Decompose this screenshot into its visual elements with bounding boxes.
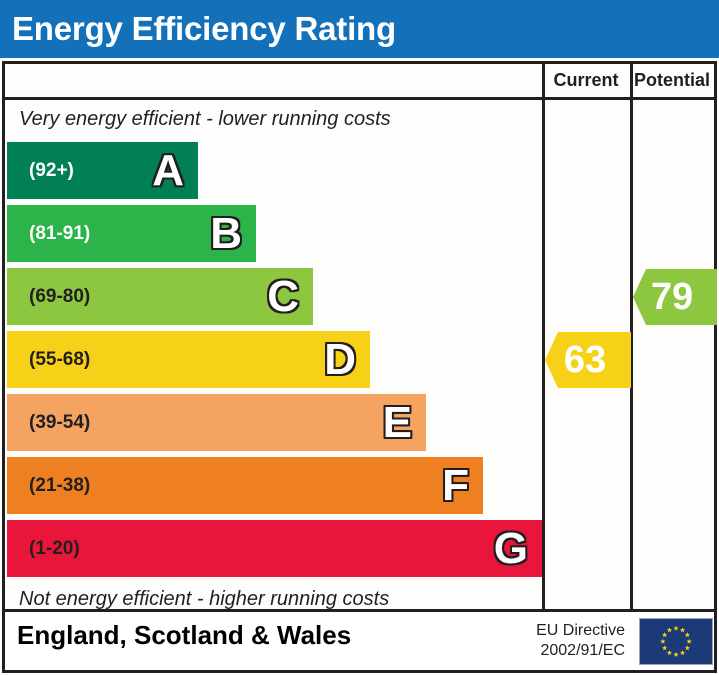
band-letter-g: G — [494, 520, 528, 577]
band-range-b: (81-91) — [29, 205, 90, 262]
band-bar-e: (39-54)E — [7, 394, 426, 451]
chart-header-banner: Energy Efficiency Rating — [0, 0, 719, 58]
band-range-a: (92+) — [29, 142, 74, 199]
page-title: Energy Efficiency Rating — [12, 6, 396, 52]
band-range-c: (69-80) — [29, 268, 90, 325]
band-letter-b: B — [210, 205, 242, 262]
rating-table: Current Potential Very energy efficient … — [2, 61, 717, 612]
band-letter-e: E — [383, 394, 412, 451]
column-header-potential: Potential — [630, 64, 714, 97]
band-bar-a: (92+)A — [7, 142, 198, 199]
footer-directive-line1: EU Directive — [435, 621, 625, 641]
band-bar-c: (69-80)C — [7, 268, 313, 325]
band-bars: (92+)A(81-91)B(69-80)C(55-68)D(39-54)E(2… — [5, 64, 542, 609]
eu-flag-icon — [639, 618, 713, 665]
energy-efficiency-rating-chart: Energy Efficiency Rating Current Potenti… — [0, 0, 719, 675]
column-header-current: Current — [542, 64, 630, 97]
band-bar-d: (55-68)D — [7, 331, 370, 388]
footer-directive-line2: 2002/91/EC — [435, 641, 625, 661]
band-range-d: (55-68) — [29, 331, 90, 388]
footer-region-label: England, Scotland & Wales — [17, 620, 351, 651]
band-letter-f: F — [442, 457, 469, 514]
footer-directive: EU Directive 2002/91/EC — [435, 621, 625, 661]
rating-arrow-current: 63 — [545, 332, 631, 388]
band-letter-c: C — [267, 268, 299, 325]
band-letter-d: D — [324, 331, 356, 388]
band-letter-a: A — [152, 142, 184, 199]
rating-arrow-potential: 79 — [633, 269, 717, 325]
band-bar-f: (21-38)F — [7, 457, 483, 514]
band-range-e: (39-54) — [29, 394, 90, 451]
band-bar-g: (1-20)G — [7, 520, 542, 577]
column-divider-current — [542, 64, 545, 609]
rating-value-current: 63 — [545, 332, 625, 388]
band-range-f: (21-38) — [29, 457, 90, 514]
chart-footer: England, Scotland & Wales EU Directive 2… — [2, 612, 717, 673]
rating-value-potential: 79 — [633, 269, 711, 325]
band-range-g: (1-20) — [29, 520, 80, 577]
band-bar-b: (81-91)B — [7, 205, 256, 262]
